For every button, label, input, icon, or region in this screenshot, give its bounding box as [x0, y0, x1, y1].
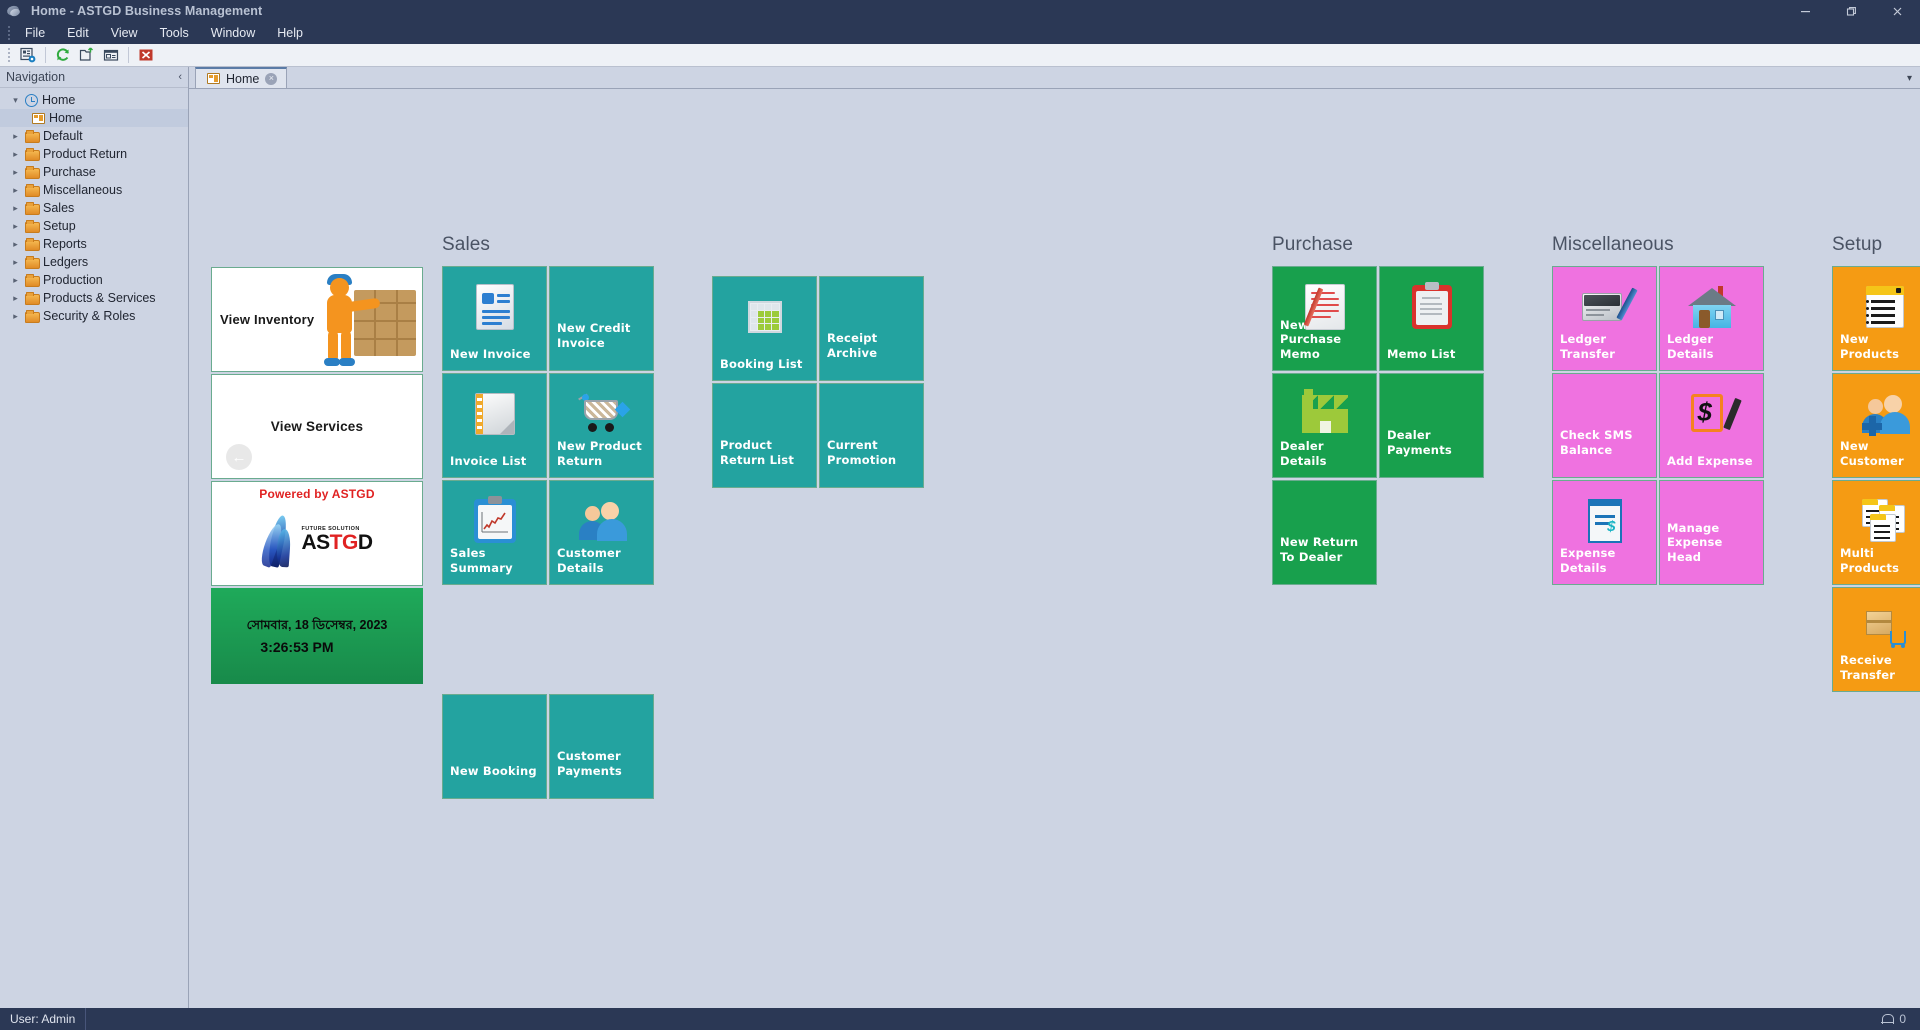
- folder-icon: [25, 257, 39, 268]
- tile-new-products[interactable]: New Products: [1832, 266, 1920, 371]
- refresh-icon[interactable]: [52, 45, 74, 65]
- group-title-miscellaneous: Miscellaneous: [1552, 234, 1772, 256]
- chevron-right-icon[interactable]: ▸: [10, 221, 21, 232]
- group-title-setup: Setup: [1832, 234, 1920, 256]
- sidebar-item-label: Setup: [43, 219, 76, 233]
- tile-customer-payments[interactable]: Customer Payments: [549, 694, 654, 799]
- view-services-label: View Services: [271, 419, 363, 434]
- feather-icon: [261, 513, 295, 567]
- ledger-pen-icon: [1553, 281, 1656, 333]
- tab-strip: Home × ▾: [189, 67, 1920, 89]
- multi-products-icon: [1833, 495, 1920, 547]
- tile-new-purchase-memo[interactable]: New Purchase Memo: [1272, 266, 1377, 371]
- sidebar-item-sales[interactable]: ▸ Sales: [0, 199, 188, 217]
- tile-label: New Credit Invoice: [550, 321, 653, 370]
- tile-grid-sales: New Invoice New Credit Invoice Invoice L…: [442, 266, 707, 799]
- sidebar-item-label: Default: [43, 129, 83, 143]
- tile-label: Expense Details: [1553, 546, 1656, 584]
- people-icon: [550, 495, 653, 547]
- tile-label: New Products: [1833, 332, 1920, 370]
- tile-product-return-list[interactable]: Product Return List: [712, 383, 817, 488]
- tile-label: New Return To Dealer: [1273, 535, 1376, 584]
- main-area: Home × ▾ View Inventory: [189, 67, 1920, 1008]
- clock-icon: [25, 94, 38, 107]
- memo-pen-icon: [1273, 281, 1376, 333]
- clipboard-icon: [1380, 281, 1483, 333]
- toolbar-grip[interactable]: [4, 48, 13, 62]
- sidebar-item-security-roles[interactable]: ▸ Security & Roles: [0, 307, 188, 325]
- title-bar: Home - ASTGD Business Management: [0, 0, 1920, 22]
- tile-ledger-details[interactable]: Ledger Details: [1659, 266, 1764, 371]
- tile-new-credit-invoice[interactable]: New Credit Invoice: [549, 266, 654, 371]
- dashboard-canvas: View Inventory View Services ← Powered b…: [189, 89, 1920, 1008]
- sidebar-item-label: Home: [49, 111, 82, 125]
- notification-count: 0: [1899, 1012, 1906, 1026]
- chevron-down-icon[interactable]: ▾: [1907, 73, 1912, 84]
- sidebar-item-production[interactable]: ▸ Production: [0, 271, 188, 289]
- tile-multi-products[interactable]: Multi Products: [1832, 480, 1920, 585]
- folder-icon: [25, 203, 39, 214]
- tile-label: New Invoice: [443, 347, 546, 370]
- tile-label: Receive Transfer: [1833, 653, 1920, 691]
- tile-dealer-payments[interactable]: Dealer Payments: [1379, 373, 1484, 478]
- chevron-right-icon[interactable]: ▸: [10, 203, 21, 214]
- app-icon: [6, 3, 22, 19]
- logo-brand-part1: AS: [301, 531, 329, 554]
- tile-grid-purchase: New Purchase Memo Memo L: [1272, 266, 1492, 585]
- toolbar-separator: [45, 47, 46, 63]
- window-list-icon[interactable]: [100, 45, 122, 65]
- tile-grid-setup: New Products Categories: [1832, 266, 1920, 692]
- navigation-title: Navigation: [6, 70, 178, 84]
- chevron-right-icon[interactable]: ▸: [10, 257, 21, 268]
- dollar-note-icon: $: [1660, 388, 1763, 440]
- warehouse-worker-illustration: [310, 274, 418, 368]
- house-icon: [1660, 281, 1763, 333]
- tile-label: Check SMS Balance: [1553, 428, 1656, 477]
- tile-sales-summary[interactable]: Sales Summary: [442, 480, 547, 585]
- group-setup: Setup New Products: [1832, 234, 1920, 692]
- factory-icon: [1273, 388, 1376, 440]
- close-icon[interactable]: ×: [265, 73, 277, 85]
- group-title-sales: Sales: [442, 234, 707, 256]
- group-sales-extra: Booking List Receipt Archive Product Ret…: [712, 276, 932, 488]
- sidebar-item-label: Reports: [43, 237, 87, 251]
- sidebar-item-setup[interactable]: ▸ Setup: [0, 217, 188, 235]
- tile-label: New Product Return: [550, 439, 653, 477]
- folder-icon: [25, 311, 39, 322]
- tile-label: Sales Summary: [443, 546, 546, 584]
- menu-file[interactable]: File: [14, 23, 56, 43]
- view-services-widget[interactable]: View Services ←: [211, 374, 423, 479]
- folder-icon: [25, 167, 39, 178]
- current-time: 3:26:53 PM: [260, 639, 333, 655]
- menu-tools[interactable]: Tools: [149, 23, 200, 43]
- tile-check-sms-balance[interactable]: Check SMS Balance: [1552, 373, 1657, 478]
- sidebar-item-label: Sales: [43, 201, 74, 215]
- notebook-icon: [443, 388, 546, 440]
- tile-ledger-transfer[interactable]: Ledger Transfer: [1552, 266, 1657, 371]
- menu-view[interactable]: View: [100, 23, 149, 43]
- tile-label: Invoice List: [443, 454, 546, 477]
- tile-manage-expense-head[interactable]: Manage Expense Head: [1659, 480, 1764, 585]
- navigation-tree: ▾ Home Home ▸ Default ▸ Product Return ▸: [0, 88, 188, 1008]
- tile-label: Current Promotion: [820, 438, 923, 487]
- tile-label: Booking List: [713, 357, 816, 380]
- menu-bar: File Edit View Tools Window Help: [0, 22, 1920, 44]
- close-window-icon[interactable]: [135, 45, 157, 65]
- folder-icon: [25, 149, 39, 160]
- group-sales: Sales New Invoice New Credit Invoice: [442, 234, 707, 799]
- tile-label: New Customer: [1833, 439, 1920, 477]
- tile-grid-sales-extra: Booking List Receipt Archive Product Ret…: [712, 276, 932, 488]
- chevron-right-icon[interactable]: ▸: [10, 149, 21, 160]
- receipt-icon: $: [1553, 495, 1656, 547]
- folder-icon: [25, 293, 39, 304]
- tile-label: Ledger Transfer: [1553, 332, 1656, 370]
- sidebar-item-home[interactable]: Home: [0, 109, 188, 127]
- tile-booking-list[interactable]: Booking List: [712, 276, 817, 381]
- widget-column: View Inventory View Services ← Powered b…: [211, 267, 423, 684]
- chevron-right-icon[interactable]: ▸: [10, 275, 21, 286]
- tile-customer-details[interactable]: Customer Details: [549, 480, 654, 585]
- sidebar-item-label: Miscellaneous: [43, 183, 122, 197]
- folder-icon: [25, 239, 39, 250]
- view-inventory-widget[interactable]: View Inventory: [211, 267, 423, 372]
- chevron-right-icon[interactable]: ▸: [10, 167, 21, 178]
- sidebar-item-reports[interactable]: ▸ Reports: [0, 235, 188, 253]
- group-purchase: Purchase New Purchase Memo: [1272, 234, 1492, 585]
- chevron-right-icon[interactable]: ▸: [10, 131, 21, 142]
- tile-receive-transfer[interactable]: Receive Transfer: [1832, 587, 1920, 692]
- tile-new-product-return[interactable]: New Product Return: [549, 373, 654, 478]
- current-date: সোমবার, 18 ডিসেম্বর, 2023: [247, 617, 388, 637]
- astgd-logo: FUTURE SOLUTION ASTGD: [261, 513, 372, 567]
- shopping-cart-icon: [550, 388, 653, 440]
- tile-label: Dealer Details: [1273, 439, 1376, 477]
- folder-icon: [25, 275, 39, 286]
- window-title: Home - ASTGD Business Management: [31, 4, 262, 18]
- maximize-button[interactable]: [1828, 0, 1874, 22]
- tile-new-customer[interactable]: New Customer: [1832, 373, 1920, 478]
- status-bar: User: Admin 0: [0, 1008, 1920, 1030]
- tile-receipt-archive[interactable]: Receipt Archive: [819, 276, 924, 381]
- tile-label: Receipt Archive: [820, 331, 923, 380]
- logo-brand-part3: D: [358, 531, 373, 554]
- tile-label: Multi Products: [1833, 546, 1920, 584]
- tile-memo-list[interactable]: Memo List: [1379, 266, 1484, 371]
- window-controls: [1782, 0, 1920, 22]
- sidebar-item-label: Security & Roles: [43, 309, 135, 323]
- minimize-button[interactable]: [1782, 0, 1828, 22]
- tile-label: Memo List: [1380, 347, 1483, 370]
- chevron-right-icon[interactable]: ▸: [10, 311, 21, 322]
- sidebar-item-product-return[interactable]: ▸ Product Return: [0, 145, 188, 163]
- tile-label: Product Return List: [713, 438, 816, 487]
- sidebar-item-label: Product Return: [43, 147, 127, 161]
- tab-label: Home: [226, 72, 259, 86]
- sidebar-item-default[interactable]: ▸ Default: [0, 127, 188, 145]
- folder-icon: [25, 221, 39, 232]
- chevron-right-icon[interactable]: ▸: [10, 239, 21, 250]
- navigation-panel: Navigation ‹ ▾ Home Home ▸ Default ▸ Pro: [0, 67, 189, 1008]
- tile-dealer-details[interactable]: Dealer Details: [1272, 373, 1377, 478]
- menu-help[interactable]: Help: [266, 23, 314, 43]
- bell-icon[interactable]: [1881, 1013, 1893, 1026]
- tile-current-promotion[interactable]: Current Promotion: [819, 383, 924, 488]
- folder-icon: [25, 131, 39, 142]
- window-icon: [32, 113, 45, 124]
- chevron-down-icon[interactable]: ▾: [10, 95, 21, 106]
- logo-brand-part2: TG: [330, 531, 358, 554]
- powered-by-widget: Powered by ASTGD FUTURE SOLUTION ASTGD: [211, 481, 423, 586]
- tile-new-invoice[interactable]: New Invoice: [442, 266, 547, 371]
- sidebar-item-miscellaneous[interactable]: ▸ Miscellaneous: [0, 181, 188, 199]
- sidebar-item-label: Ledgers: [43, 255, 88, 269]
- powered-by-label: Powered by ASTGD: [259, 487, 374, 501]
- group-title-purchase: Purchase: [1272, 234, 1492, 256]
- workspace: Navigation ‹ ▾ Home Home ▸ Default ▸ Pro: [0, 67, 1920, 1008]
- tile-invoice-list[interactable]: Invoice List: [442, 373, 547, 478]
- invoice-document-icon: [443, 281, 546, 333]
- tile-expense-details[interactable]: $ Expense Details: [1552, 480, 1657, 585]
- sidebar-item-label: Purchase: [43, 165, 96, 179]
- notification-area[interactable]: 0: [1881, 1012, 1920, 1026]
- tile-add-expense[interactable]: $ Add Expense: [1659, 373, 1764, 478]
- datetime-widget: সোমবার, 18 ডিসেম্বর, 2023 3:26:53 PM: [211, 588, 423, 684]
- toolbar-separator-2: [128, 47, 129, 63]
- sidebar-item-ledgers[interactable]: ▸ Ledgers: [0, 253, 188, 271]
- chevron-right-icon[interactable]: ▸: [10, 185, 21, 196]
- module-settings-icon[interactable]: [17, 45, 39, 65]
- tile-label: Customer Details: [550, 546, 653, 584]
- previous-arrow-icon[interactable]: ←: [226, 444, 252, 470]
- sidebar-item-products-services[interactable]: ▸ Products & Services: [0, 289, 188, 307]
- people-add-icon: [1833, 388, 1920, 440]
- grid-table-icon: [713, 291, 816, 343]
- sidebar-item-label: Products & Services: [43, 291, 156, 305]
- window-icon: [207, 73, 220, 84]
- sidebar-item-purchase[interactable]: ▸ Purchase: [0, 163, 188, 181]
- group-miscellaneous: Miscellaneous Ledger Transfer: [1552, 234, 1772, 585]
- sidebar-item-home-root[interactable]: ▾ Home: [0, 91, 188, 109]
- tile-grid-miscellaneous: Ledger Transfer Ledger Details Check SMS…: [1552, 266, 1772, 585]
- navigation-header: Navigation ‹: [0, 67, 188, 88]
- close-button[interactable]: [1874, 0, 1920, 22]
- tile-label: Ledger Details: [1660, 332, 1763, 370]
- status-user: User: Admin: [0, 1008, 86, 1030]
- chart-clipboard-icon: [443, 495, 546, 547]
- menu-edit[interactable]: Edit: [56, 23, 100, 43]
- tab-home[interactable]: Home ×: [195, 67, 287, 88]
- receive-box-icon: [1833, 602, 1920, 654]
- tile-new-booking[interactable]: New Booking: [442, 694, 547, 799]
- open-window-icon[interactable]: [76, 45, 98, 65]
- sidebar-item-label: Production: [43, 273, 103, 287]
- product-list-icon: [1833, 281, 1920, 333]
- tile-label: Customer Payments: [550, 749, 653, 798]
- collapse-panel-icon[interactable]: ‹: [178, 71, 182, 83]
- tile-label: New Booking: [443, 764, 546, 798]
- toolbar: [0, 44, 1920, 67]
- menu-window[interactable]: Window: [200, 23, 266, 43]
- tile-label: Dealer Payments: [1380, 428, 1483, 477]
- tile-label: Manage Expense Head: [1660, 521, 1763, 584]
- view-inventory-label: View Inventory: [220, 312, 314, 327]
- tile-new-return-to-dealer[interactable]: New Return To Dealer: [1272, 480, 1377, 585]
- sidebar-item-label: Home: [42, 93, 75, 107]
- chevron-right-icon[interactable]: ▸: [10, 293, 21, 304]
- folder-icon: [25, 185, 39, 196]
- menu-grip[interactable]: [4, 26, 14, 40]
- tile-label: Add Expense: [1660, 454, 1763, 477]
